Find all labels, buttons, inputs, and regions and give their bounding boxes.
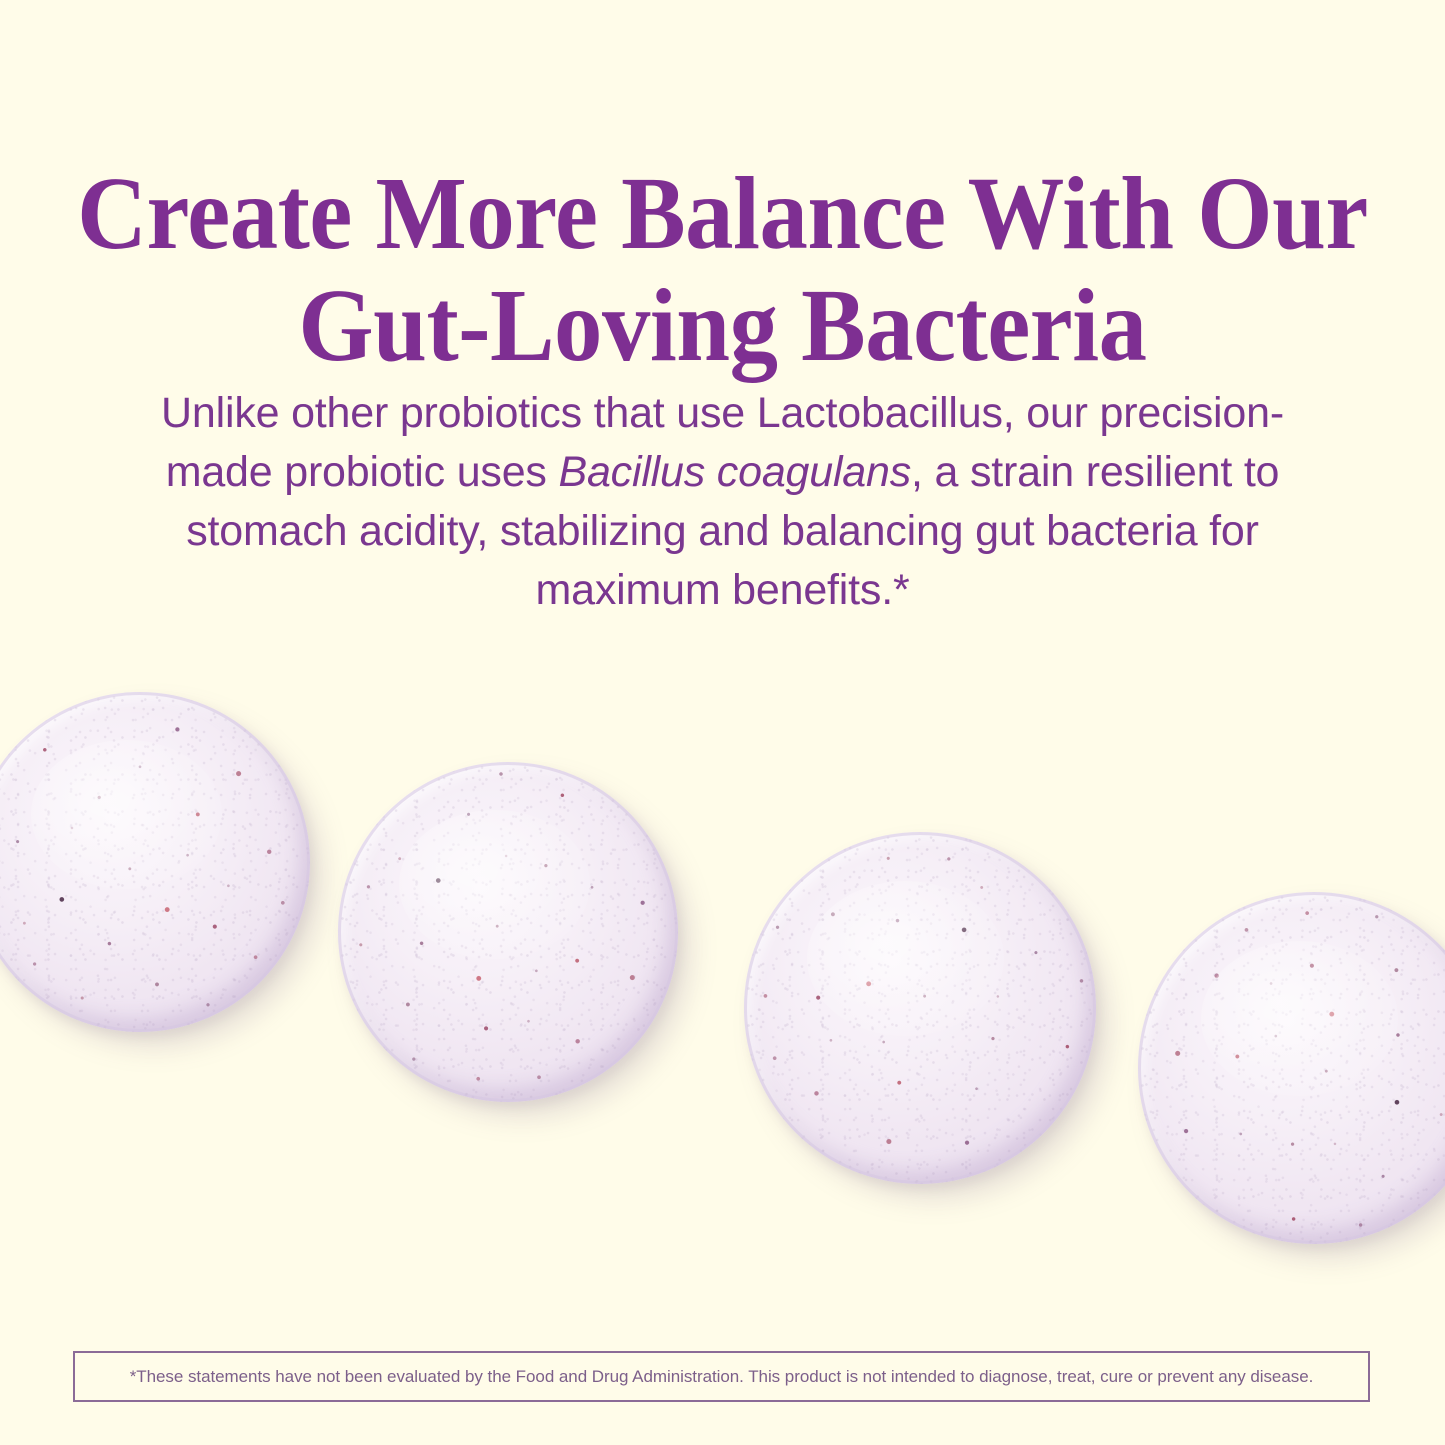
tablet-rim xyxy=(0,692,310,1032)
promo-panel: Create More Balance With Our Gut-Loving … xyxy=(0,0,1445,1445)
page-title: Create More Balance With Our Gut-Loving … xyxy=(51,158,1395,382)
tablet-rim xyxy=(744,832,1096,1184)
tablet-rim xyxy=(338,762,678,1102)
headline-line-1: Create More Balance With Our xyxy=(51,158,1395,270)
scientific-name: Bacillus coagulans xyxy=(558,448,911,496)
product-image xyxy=(0,640,1445,1300)
disclaimer-text: *These statements have not been evaluate… xyxy=(130,1367,1314,1387)
tablet-1 xyxy=(0,692,310,1032)
tablet-rim xyxy=(1138,892,1445,1244)
subheading: Unlike other probiotics that use Lactoba… xyxy=(130,384,1315,620)
tablet-2 xyxy=(338,762,678,1102)
headline-line-2: Gut-Loving Bacteria xyxy=(51,270,1395,382)
tablet-3 xyxy=(744,832,1096,1184)
disclaimer-box: *These statements have not been evaluate… xyxy=(73,1351,1370,1402)
tablet-4 xyxy=(1138,892,1445,1244)
